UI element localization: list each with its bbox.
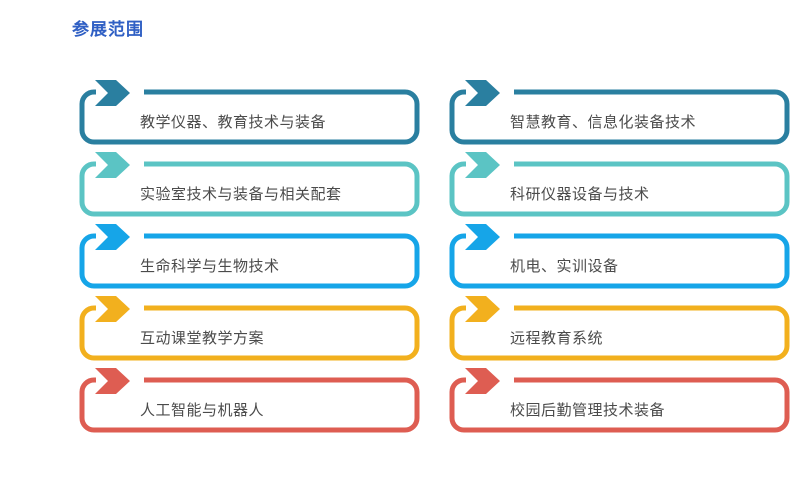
chevron-right-icon <box>465 152 500 178</box>
chevron-right-icon <box>465 368 500 394</box>
right-column: 智慧教育、信息化装备技术科研仪器设备与技术机电、实训设备远程教育系统校园后勤管理… <box>448 78 793 428</box>
chevron-right-icon <box>95 368 130 394</box>
scope-item[interactable]: 科研仪器设备与技术 <box>448 150 793 228</box>
scope-item[interactable]: 智慧教育、信息化装备技术 <box>448 78 793 156</box>
scope-item[interactable]: 生命科学与生物技术 <box>78 222 423 300</box>
page-title: 参展范围 <box>72 15 144 40</box>
scope-item-label: 教学仪器、教育技术与装备 <box>140 108 418 138</box>
chevron-right-icon <box>95 152 130 178</box>
scope-item-label: 智慧教育、信息化装备技术 <box>510 108 788 138</box>
scope-item-label: 科研仪器设备与技术 <box>510 180 788 210</box>
exhibit-scope-board: 参展范围 教学仪器、教育技术与装备实验室技术与装备与相关配套生命科学与生物技术互… <box>0 0 800 494</box>
chevron-right-icon <box>95 80 130 106</box>
chevron-right-icon <box>465 296 500 322</box>
scope-item[interactable]: 实验室技术与装备与相关配套 <box>78 150 423 228</box>
scope-item[interactable]: 校园后勤管理技术装备 <box>448 366 793 444</box>
chevron-right-icon <box>95 296 130 322</box>
chevron-right-icon <box>465 80 500 106</box>
chevron-right-icon <box>95 224 130 250</box>
scope-item-label: 机电、实训设备 <box>510 252 788 282</box>
scope-item-label: 实验室技术与装备与相关配套 <box>140 180 418 210</box>
scope-item[interactable]: 互动课堂教学方案 <box>78 294 423 372</box>
scope-item-label: 生命科学与生物技术 <box>140 252 418 282</box>
scope-item-label: 人工智能与机器人 <box>140 396 418 426</box>
scope-item[interactable]: 机电、实训设备 <box>448 222 793 300</box>
scope-item[interactable]: 远程教育系统 <box>448 294 793 372</box>
scope-item-label: 远程教育系统 <box>510 324 788 354</box>
scope-item[interactable]: 人工智能与机器人 <box>78 366 423 444</box>
scope-item-label: 校园后勤管理技术装备 <box>510 396 788 426</box>
left-column: 教学仪器、教育技术与装备实验室技术与装备与相关配套生命科学与生物技术互动课堂教学… <box>78 78 423 428</box>
chevron-right-icon <box>465 224 500 250</box>
scope-item-label: 互动课堂教学方案 <box>140 324 418 354</box>
scope-item[interactable]: 教学仪器、教育技术与装备 <box>78 78 423 156</box>
